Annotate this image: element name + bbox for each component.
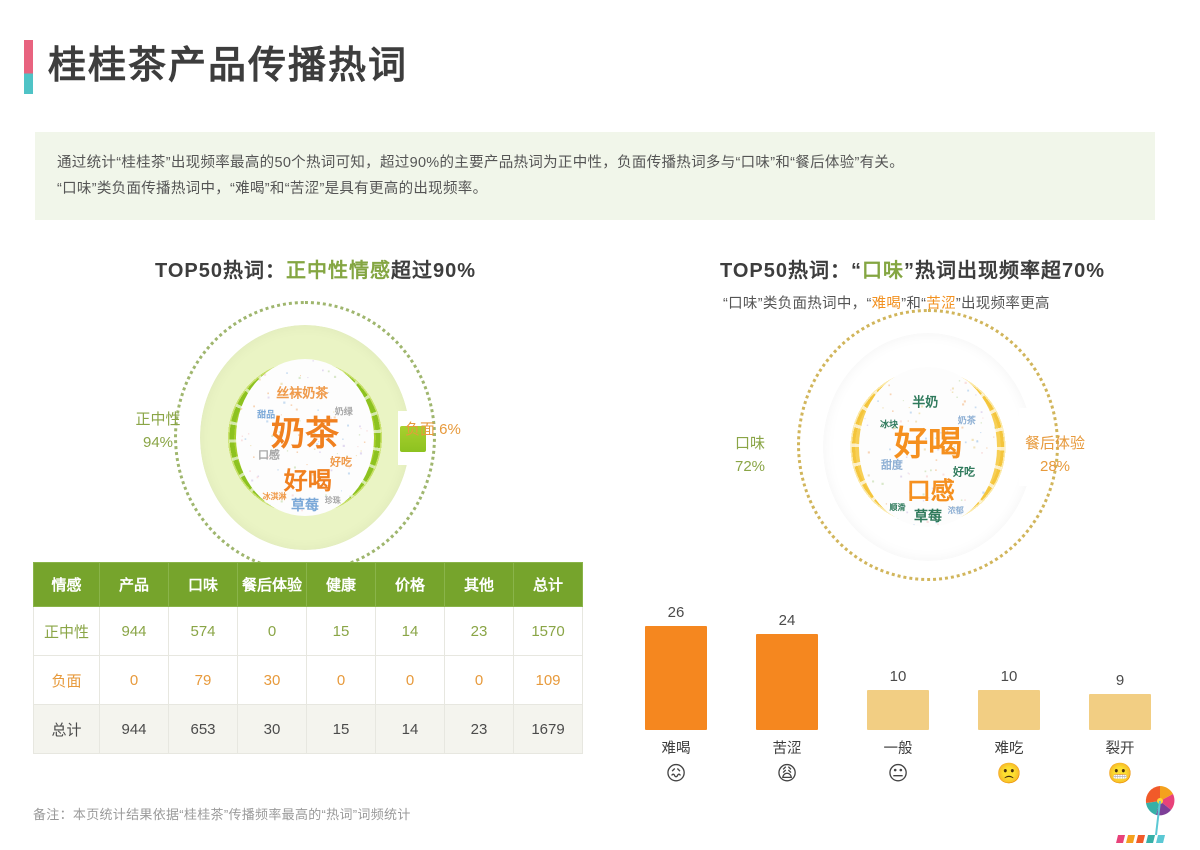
cloud-speckle: ▪: [258, 376, 261, 384]
cloud-speckle: ▪: [357, 445, 359, 450]
cloud-speckle: ▪: [309, 359, 311, 362]
cloud-speckle: ▪: [964, 379, 967, 388]
cloud-speckle: ▪: [964, 498, 966, 504]
cloud-speckle: ▪: [956, 368, 958, 373]
table-cell: 0: [376, 656, 445, 705]
cloud-speckle: ▪: [363, 365, 365, 371]
table-cell: 15: [307, 705, 376, 754]
cloud-speckle: ▪: [859, 410, 860, 414]
cloud-speckle: ▪: [250, 444, 252, 448]
table-cell: 30: [238, 656, 307, 705]
cloud-speckle: ▪: [307, 376, 309, 380]
cloud-speckle: ▪: [888, 383, 890, 390]
table-cell: 653: [169, 705, 238, 754]
word-cloud-right: 好喝口感半奶草莓好吃甜度奶茶冰块浓郁顺滑▪▪▪▪▪▪▪▪▪▪▪▪▪▪▪▪▪▪▪▪…: [859, 367, 998, 527]
bar-rect: [1089, 694, 1151, 730]
cloud-speckle: ▪: [342, 442, 345, 451]
cloud-word: 奶茶: [271, 417, 339, 451]
cloud-speckle: ▪: [362, 491, 365, 500]
cloud-speckle: ▪: [908, 406, 910, 410]
label-taste-value: 72%: [710, 455, 790, 478]
bar-emoji-icon: 😩: [739, 763, 835, 785]
negative-keyword-bar-chart: 26难喝😖24苦涩😩10一般😐10难吃🙁9裂开😬: [620, 570, 1180, 785]
cloud-word: 顺滑: [889, 504, 905, 512]
bar-category-label: 裂开: [1072, 737, 1168, 758]
cloud-speckle: ▪: [368, 385, 371, 393]
bar-rect: [867, 690, 929, 730]
title-accent-bar: [24, 40, 33, 94]
cloud-word: 珍珠: [325, 497, 341, 505]
cloud-speckle: ▪: [889, 391, 891, 398]
cloud-speckle: ▪: [986, 448, 988, 453]
cloud-speckle: ▪: [238, 359, 241, 366]
cloud-speckle: ▪: [935, 467, 937, 473]
cloud-speckle: ▪: [859, 457, 860, 462]
cloud-speckle: ▪: [882, 406, 884, 411]
footnote: 备注：本页统计结果依据“桂桂茶”传播频率最高的“热词”词频统计: [33, 804, 411, 823]
cloud-speckle: ▪: [242, 379, 245, 387]
cloud-speckle: ▪: [244, 437, 246, 443]
label-taste-name: 口味: [710, 432, 790, 455]
cloud-speckle: ▪: [349, 495, 351, 501]
cloud-speckle: ▪: [359, 433, 361, 438]
cloud-speckle: ▪: [248, 433, 250, 438]
table-cell: 15: [307, 607, 376, 656]
table-row: 总计944653301514231679: [34, 705, 583, 754]
cloud-speckle: ▪: [348, 503, 351, 511]
table-column-header-5: 价格: [376, 563, 445, 607]
cloud-speckle: ▪: [236, 370, 238, 378]
bar-category-label: 难吃: [961, 737, 1057, 758]
cloud-speckle: ▪: [236, 470, 238, 478]
sentiment-donut-chart: 奶茶好喝丝袜奶茶草莓好吃口感奶绿甜品珍珠冰淇淋▪▪▪▪▪▪▪▪▪▪▪▪▪▪▪▪▪…: [200, 325, 410, 550]
cloud-word: 草莓: [914, 509, 942, 523]
cloud-speckle: ▪: [886, 502, 888, 507]
cloud-speckle: ▪: [860, 511, 862, 516]
cloud-speckle: ▪: [982, 387, 985, 395]
page-title: 桂桂茶产品传播热词: [48, 36, 408, 96]
cloud-speckle: ▪: [992, 508, 995, 516]
cloud-speckle: ▪: [877, 399, 879, 405]
cloud-speckle: ▪: [975, 393, 977, 398]
right-title-suffix: ”热词出现频率超70%: [904, 260, 1105, 282]
cloud-speckle: ▪: [867, 424, 869, 430]
bar-value-label: 26: [668, 604, 685, 621]
table-cell: 944: [100, 607, 169, 656]
bar-group: 24苦涩😩: [739, 618, 835, 785]
subtitle-part-c: ”出现频率更高: [956, 296, 1050, 312]
cloud-speckle: ▪: [251, 477, 254, 485]
cloud-speckle: ▪: [987, 377, 989, 382]
cloud-speckle: ▪: [980, 422, 982, 427]
cloud-speckle: ▪: [240, 500, 242, 507]
cloud-speckle: ▪: [271, 506, 274, 515]
cloud-speckle: ▪: [967, 387, 970, 395]
table-cell: 0: [100, 656, 169, 705]
cloud-word: 甜品: [257, 411, 275, 420]
cloud-word: 浓郁: [948, 507, 964, 515]
cloud-speckle: ▪: [364, 441, 366, 447]
cloud-speckle: ▪: [989, 369, 991, 375]
bar-group: 10一般😐: [850, 618, 946, 785]
table-cell: 14: [376, 607, 445, 656]
cloud-speckle: ▪: [971, 435, 974, 444]
cloud-speckle: ▪: [286, 371, 288, 377]
cloud-speckle: ▪: [889, 446, 892, 453]
left-title-suffix: 超过90%: [391, 260, 476, 282]
cloud-speckle: ▪: [264, 367, 266, 372]
summary-box: 通过统计“桂桂茶”出现频率最高的50个热词可知，超过90%的主要产品热词为正中性…: [35, 132, 1155, 220]
left-title-highlight: 正中性情感: [286, 260, 391, 282]
table-row: 正中性94457401514231570: [34, 607, 583, 656]
table-cell: 574: [169, 607, 238, 656]
cloud-word: 奶绿: [335, 408, 353, 417]
bar-rect: [978, 690, 1040, 730]
cloud-speckle: ▪: [366, 496, 369, 504]
cloud-speckle: ▪: [341, 489, 342, 493]
label-negative-name: 负面 6%: [405, 418, 495, 441]
table-column-header-2: 口味: [169, 563, 238, 607]
left-title-prefix: TOP50热词：: [155, 260, 286, 282]
cloud-speckle: ▪: [240, 368, 242, 373]
table-column-header-6: 其他: [445, 563, 514, 607]
cloud-speckle: ▪: [899, 416, 902, 424]
cloud-speckle: ▪: [994, 491, 997, 499]
cloud-speckle: ▪: [982, 488, 985, 497]
cloud-speckle: ▪: [958, 523, 961, 527]
cloud-speckle: ▪: [872, 478, 875, 486]
cloud-speckle: ▪: [877, 367, 879, 374]
cloud-speckle: ▪: [951, 520, 954, 527]
cloud-speckle: ▪: [366, 430, 368, 435]
cloud-speckle: ▪: [333, 373, 336, 382]
cloud-speckle: ▪: [867, 448, 870, 456]
table-cell: 0: [238, 607, 307, 656]
right-chart-title: TOP50热词：“口味”热词出现频率超70%: [720, 254, 1105, 283]
cloud-speckle: ▪: [924, 469, 926, 476]
cloud-speckle: ▪: [982, 417, 984, 422]
cloud-speckle: ▪: [359, 425, 361, 432]
cloud-speckle: ▪: [867, 471, 870, 479]
cloud-word: 好喝: [284, 470, 332, 494]
sentiment-frequency-table: 情感产品口味餐后体验健康价格其他总计 正中性94457401514231570负…: [33, 562, 583, 754]
right-title-highlight: 口味: [862, 260, 904, 282]
cloud-word: 丝袜奶茶: [276, 387, 328, 400]
table-cell: 正中性: [34, 607, 100, 656]
cloud-speckle: ▪: [253, 455, 255, 461]
cloud-word: 甜度: [881, 461, 903, 472]
cloud-speckle: ▪: [864, 417, 865, 421]
table-cell: 79: [169, 656, 238, 705]
table-cell: 944: [100, 705, 169, 754]
cloud-speckle: ▪: [271, 359, 273, 365]
cloud-speckle: ▪: [900, 473, 903, 481]
label-negative-sentiment: 负面 6%: [405, 418, 495, 441]
table-column-header-7: 总计: [514, 563, 583, 607]
table-cell: 0: [307, 656, 376, 705]
cloud-word: 口感: [258, 451, 280, 462]
cloud-speckle: ▪: [974, 405, 976, 412]
cloud-speckle: ▪: [918, 411, 920, 418]
table-cell: 30: [238, 705, 307, 754]
cloud-speckle: ▪: [295, 406, 298, 414]
cloud-speckle: ▪: [249, 468, 251, 474]
cloud-speckle: ▪: [993, 436, 995, 441]
cloud-speckle: ▪: [312, 359, 314, 364]
summary-line-1: 通过统计“桂桂茶”出现频率最高的50个热词可知，超过90%的主要产品热词为正中性…: [57, 150, 1133, 176]
cloud-speckle: ▪: [277, 469, 279, 474]
cloud-speckle: ▪: [240, 406, 242, 412]
cloud-speckle: ▪: [994, 425, 997, 433]
cloud-speckle: ▪: [913, 523, 914, 526]
table-cell: 1679: [514, 705, 583, 754]
bar-value-label: 24: [779, 612, 796, 629]
subtitle-highlight-nanhe: 难喝: [872, 296, 902, 312]
cloud-speckle: ▪: [290, 403, 292, 409]
summary-line-2: “口味”类负面传播热词中，“难喝”和“苦涩”是具有更高的出现频率。: [57, 176, 1133, 202]
cloud-speckle: ▪: [971, 508, 973, 513]
bar-category-label: 难喝: [628, 737, 724, 758]
bar-group: 26难喝😖: [628, 618, 724, 785]
cloud-speckle: ▪: [865, 401, 867, 406]
table-cell: 总计: [34, 705, 100, 754]
label-positive-value: 94%: [118, 431, 198, 454]
cloud-speckle: ▪: [961, 499, 963, 505]
bar-value-label: 9: [1116, 672, 1124, 689]
cloud-word: 奶茶: [958, 417, 976, 426]
cloud-word: 好喝: [894, 427, 962, 461]
label-positive-sentiment: 正中性 94%: [118, 408, 198, 454]
cloud-word: 草莓: [291, 498, 319, 512]
table-body: 正中性94457401514231570负面07930000109总计94465…: [34, 607, 583, 754]
label-after-experience: 餐后体验 28%: [1005, 432, 1105, 478]
cloud-speckle: ▪: [956, 396, 958, 402]
cloud-speckle: ▪: [906, 510, 908, 517]
label-positive-name: 正中性: [118, 408, 198, 431]
table-column-header-0: 情感: [34, 563, 100, 607]
cloud-speckle: ▪: [249, 364, 251, 371]
right-title-prefix: TOP50热词：“: [720, 260, 862, 282]
cloud-speckle: ▪: [251, 488, 254, 497]
cloud-speckle: ▪: [976, 438, 979, 446]
cloud-speckle: ▪: [959, 380, 961, 385]
cloud-speckle: ▪: [236, 385, 238, 392]
bar-group: 9裂开😬: [1072, 618, 1168, 785]
cloud-word: 好吃: [953, 467, 975, 478]
bar-value-label: 10: [890, 668, 907, 685]
cloud-speckle: ▪: [360, 448, 363, 456]
left-chart-title: TOP50热词：正中性情感超过90%: [155, 254, 476, 283]
cloud-speckle: ▪: [951, 390, 953, 396]
cloud-word: 冰淇淋: [262, 493, 286, 501]
bar-emoji-icon: 😖: [628, 763, 724, 785]
cloud-speckle: ▪: [980, 408, 983, 415]
cloud-speckle: ▪: [322, 369, 324, 376]
label-after-value: 28%: [1005, 455, 1105, 478]
cloud-speckle: ▪: [238, 510, 240, 516]
cloud-speckle: ▪: [356, 454, 357, 458]
table-row: 负面07930000109: [34, 656, 583, 705]
cloud-speckle: ▪: [863, 374, 865, 380]
cloud-speckle: ▪: [246, 483, 248, 489]
table-cell: 0: [445, 656, 514, 705]
taste-donut-chart: 好喝口感半奶草莓好吃甜度奶茶冰块浓郁顺滑▪▪▪▪▪▪▪▪▪▪▪▪▪▪▪▪▪▪▪▪…: [823, 333, 1033, 561]
bar-rect: [645, 626, 707, 730]
cloud-speckle: ▪: [371, 469, 374, 477]
table-cell: 23: [445, 705, 514, 754]
cloud-speckle: ▪: [981, 520, 984, 526]
cloud-speckle: ▪: [324, 359, 326, 364]
cloud-speckle: ▪: [372, 491, 374, 496]
bar-value-label: 10: [1001, 668, 1018, 685]
table-cell: 109: [514, 656, 583, 705]
bar-group: 10难吃🙁: [961, 618, 1057, 785]
cloud-speckle: ▪: [861, 367, 863, 370]
cloud-speckle: ▪: [892, 409, 894, 415]
bar-emoji-icon: 🙁: [961, 763, 1057, 785]
cloud-speckle: ▪: [994, 474, 997, 481]
cloud-speckle: ▪: [239, 385, 242, 393]
cloud-word: 口感: [907, 480, 955, 504]
cloud-speckle: ▪: [256, 474, 259, 481]
label-after-name: 餐后体验: [1005, 432, 1105, 455]
cloud-speckle: ▪: [884, 370, 886, 376]
bar-category-label: 苦涩: [739, 737, 835, 758]
cloud-speckle: ▪: [964, 440, 966, 447]
table-header-row: 情感产品口味餐后体验健康价格其他总计: [34, 563, 583, 607]
cloud-word: 好吃: [330, 457, 352, 468]
cloud-speckle: ▪: [860, 522, 862, 527]
label-taste: 口味 72%: [710, 432, 790, 478]
cloud-speckle: ▪: [372, 415, 374, 419]
cloud-speckle: ▪: [259, 499, 262, 507]
pinwheel-logo: [1116, 779, 1188, 845]
bar-emoji-icon: 😐: [850, 763, 946, 785]
cloud-speckle: ▪: [253, 403, 256, 410]
cloud-speckle: ▪: [327, 367, 330, 374]
cloud-speckle: ▪: [317, 409, 319, 415]
table-column-header-1: 产品: [100, 563, 169, 607]
cloud-speckle: ▪: [347, 422, 350, 430]
cloud-speckle: ▪: [354, 496, 357, 505]
cloud-speckle: ▪: [340, 359, 342, 363]
cloud-speckle: ▪: [980, 431, 982, 435]
cloud-speckle: ▪: [246, 378, 248, 384]
cloud-speckle: ▪: [930, 467, 933, 474]
cloud-speckle: ▪: [267, 394, 270, 402]
table-cell: 14: [376, 705, 445, 754]
cloud-speckle: ▪: [898, 522, 901, 526]
cloud-speckle: ▪: [881, 480, 884, 489]
cloud-word: 冰块: [880, 420, 898, 429]
table-cell: 1570: [514, 607, 583, 656]
word-cloud-left: 奶茶好喝丝袜奶茶草莓好吃口感奶绿甜品珍珠冰淇淋▪▪▪▪▪▪▪▪▪▪▪▪▪▪▪▪▪…: [236, 359, 375, 517]
cloud-speckle: ▪: [241, 437, 244, 444]
cloud-speckle: ▪: [995, 412, 997, 417]
subtitle-part-a: “口味”类负面热词中，“: [723, 296, 872, 312]
page-header: 桂桂茶产品传播热词: [0, 38, 1200, 100]
cloud-speckle: ▪: [867, 368, 869, 372]
right-chart-subtitle: “口味”类负面热词中，“难喝”和“苦涩”出现频率更高: [723, 292, 1050, 313]
bar-rect: [756, 634, 818, 730]
cloud-speckle: ▪: [903, 399, 904, 403]
table-column-header-3: 餐后体验: [238, 563, 307, 607]
cloud-speckle: ▪: [300, 374, 301, 378]
cloud-word: 半奶: [912, 396, 938, 409]
table-cell: 负面: [34, 656, 100, 705]
cloud-speckle: ▪: [335, 514, 337, 517]
table-column-header-4: 健康: [307, 563, 376, 607]
cloud-speckle: ▪: [981, 450, 983, 456]
table-cell: 23: [445, 607, 514, 656]
bar-category-label: 一般: [850, 737, 946, 758]
cloud-speckle: ▪: [963, 397, 966, 405]
cloud-speckle: ▪: [263, 371, 266, 380]
